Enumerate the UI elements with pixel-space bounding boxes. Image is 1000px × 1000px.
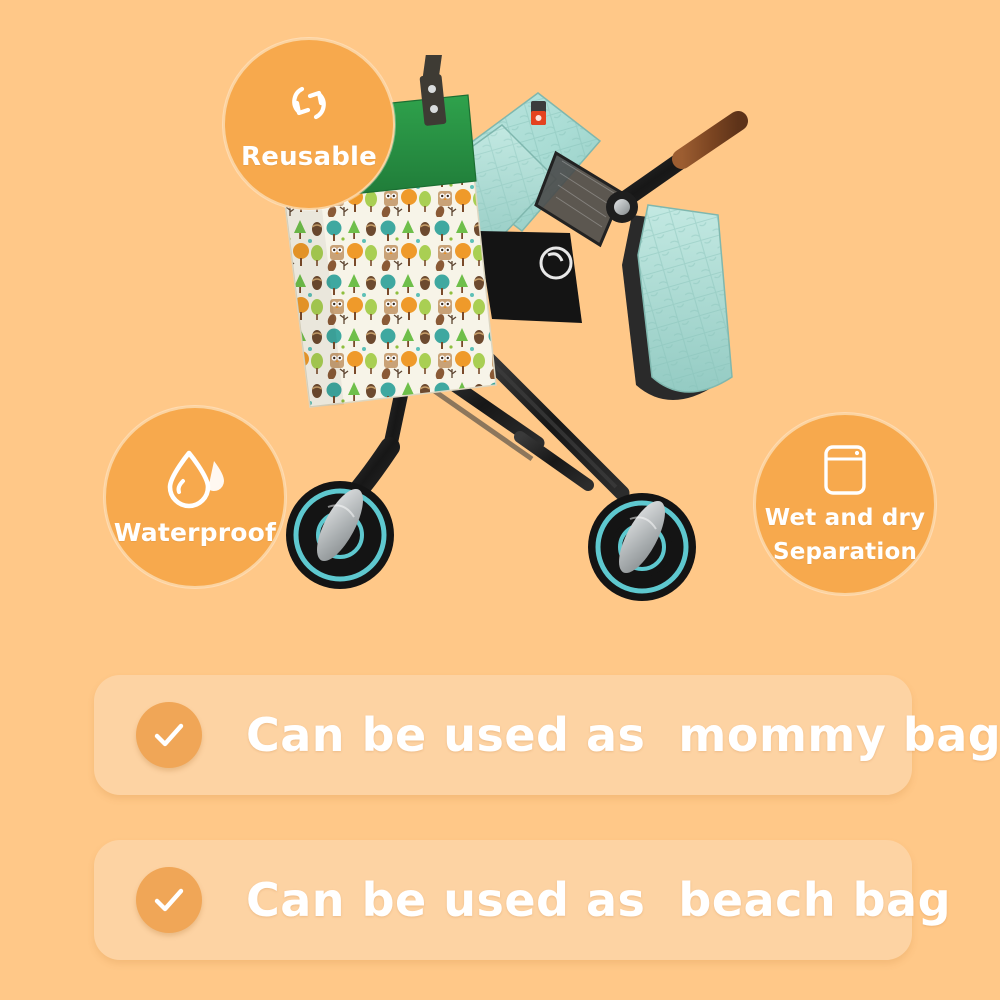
feature-badge-waterproof[interactable]: Waterproof (104, 406, 286, 588)
feature-badge-label: Waterproof (114, 519, 276, 547)
feature-badge-wet-and-dry[interactable]: Wet and dry Separation (754, 413, 936, 595)
check-icon (136, 702, 202, 768)
water-droplet-icon (162, 447, 228, 509)
divided-pouch-icon (820, 442, 870, 498)
feature-badge-label: Reusable (241, 143, 377, 172)
feature-badge-label-line2: Separation (773, 540, 917, 566)
check-icon (136, 867, 202, 933)
usage-banner-label: Can be used as mommy bag (246, 708, 1000, 762)
usage-banner-beach-bag[interactable]: Can be used as beach bag (94, 840, 912, 960)
infographic-canvas: Reusable Waterproof Wet and dry Separati… (0, 0, 1000, 1000)
feature-badge-label-line1: Wet and dry (765, 506, 926, 532)
usage-banner-label: Can be used as beach bag (246, 873, 951, 927)
feature-badge-reusable[interactable]: Reusable (223, 38, 395, 210)
usage-banner-mommy-bag[interactable]: Can be used as mommy bag (94, 675, 912, 795)
recycle-loop-icon (281, 75, 337, 131)
